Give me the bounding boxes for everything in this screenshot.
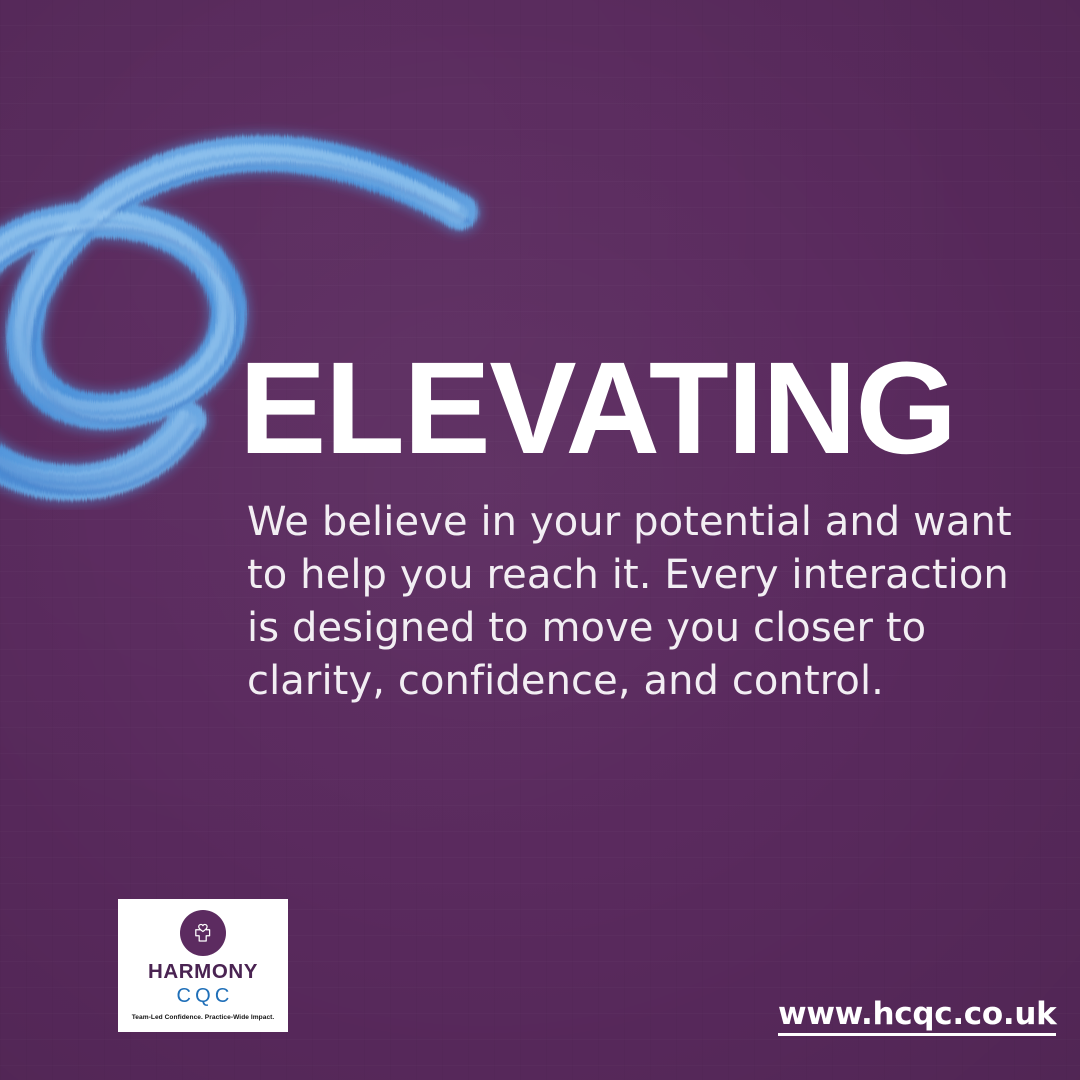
- body-paragraph: We believe in your potential and want to…: [247, 496, 1037, 708]
- logo-brand-name: HARMONY: [148, 962, 258, 983]
- page-title: ELEVATING: [239, 344, 956, 472]
- logo-brand-subname: CQC: [172, 986, 233, 1006]
- logo-tagline: Team-Led Confidence. Practice-Wide Impac…: [132, 1014, 275, 1021]
- social-post-canvas: ELEVATING We believe in your potential a…: [0, 0, 1080, 1080]
- heart-cross-icon: [180, 910, 226, 956]
- brand-logo-card: HARMONY CQC Team-Led Confidence. Practic…: [118, 899, 288, 1032]
- website-url-link[interactable]: www.hcqc.co.uk: [778, 998, 1056, 1036]
